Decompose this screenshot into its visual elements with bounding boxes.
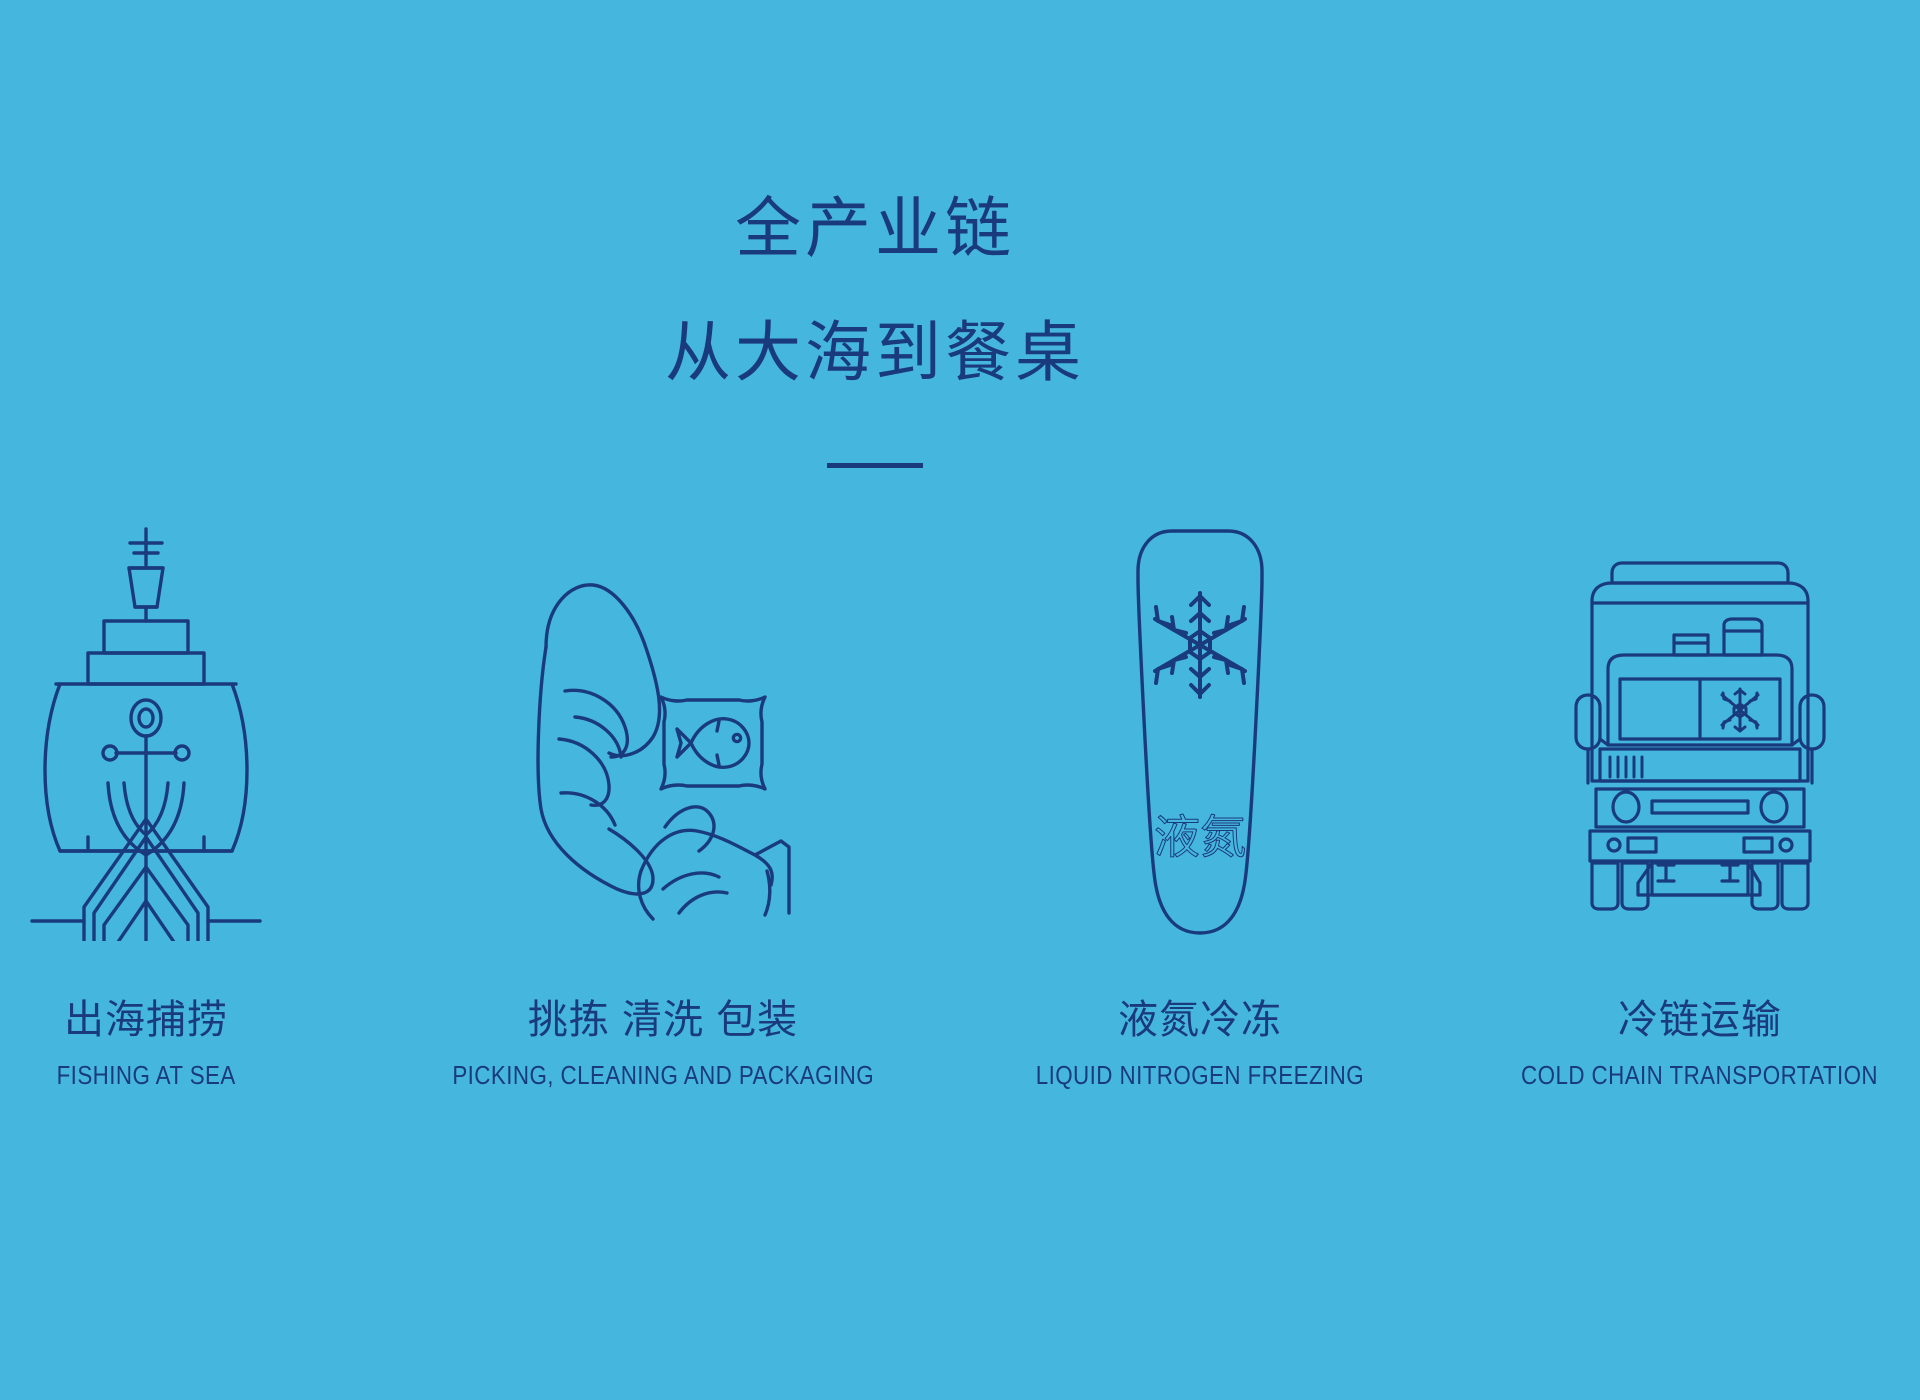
step-label-cn: 挑拣 清洗 包装 — [528, 1000, 798, 1040]
liquid-nitrogen-tank-icon: 液氮 — [980, 516, 1420, 946]
hands-packaged-fish-icon — [398, 516, 928, 946]
title-line-2: 从大海到餐桌 — [0, 292, 1835, 416]
tank-text: 液氮 — [1154, 811, 1246, 863]
process-steps: 出海捕捞 FISHING AT SEA — [0, 516, 1920, 1156]
step-label-en: COLD CHAIN TRANSPORTATION — [1522, 1062, 1879, 1088]
infographic-page: 全产业链 从大海到餐桌 — [0, 0, 1920, 1400]
title-divider-wrap — [0, 455, 1835, 473]
step-label-en: PICKING, CLEANING AND PACKAGING — [452, 1062, 874, 1088]
step-label-cn: 液氮冷冻 — [1118, 1000, 1282, 1040]
page-title: 全产业链 从大海到餐桌 — [0, 168, 1835, 416]
step-fishing-at-sea[interactable]: 出海捕捞 FISHING AT SEA — [0, 516, 292, 1088]
refrigerated-truck-icon — [1480, 516, 1920, 946]
step-label-cn: 出海捕捞 — [64, 1000, 228, 1040]
title-line-1: 全产业链 — [0, 168, 1835, 292]
step-picking-cleaning-packaging[interactable]: 挑拣 清洗 包装 PICKING, CLEANING AND PACKAGING — [398, 516, 928, 1088]
step-label-cn: 冷链运输 — [1618, 1000, 1782, 1040]
fishing-boat-icon — [0, 516, 292, 946]
step-label-en: FISHING AT SEA — [56, 1062, 235, 1088]
title-divider — [827, 463, 923, 468]
step-cold-chain-transportation[interactable]: 冷链运输 COLD CHAIN TRANSPORTATION — [1480, 516, 1920, 1088]
step-label-en: LIQUID NITROGEN FREEZING — [1036, 1062, 1364, 1088]
step-liquid-nitrogen-freezing[interactable]: 液氮 液氮冷冻 LIQUID NITROGEN FREEZING — [980, 516, 1420, 1088]
